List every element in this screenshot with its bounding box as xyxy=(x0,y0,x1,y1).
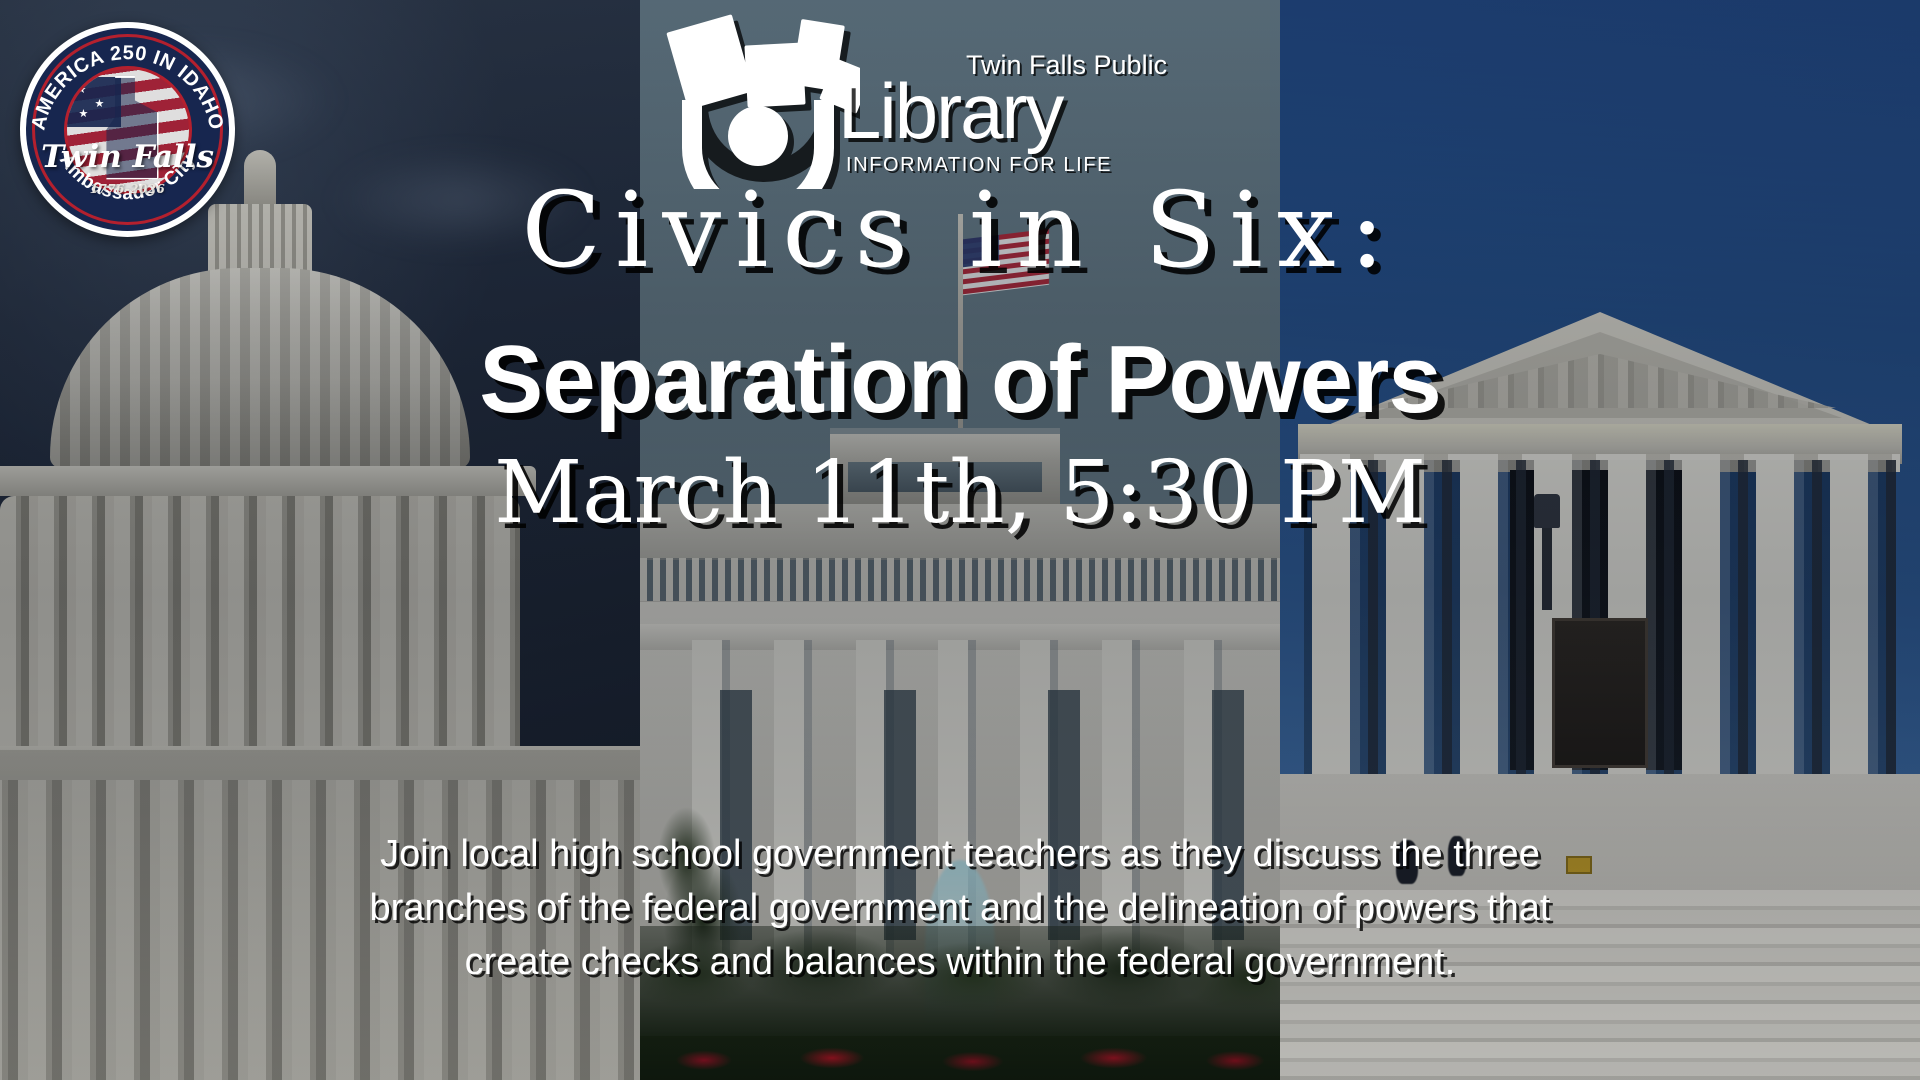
headline-datetime: March 11th, 5:30 PM xyxy=(0,450,1920,536)
event-flyer: ★ ★ ★ AMERICA 250 IN IDAHO Ambassador Ci… xyxy=(0,0,1920,1080)
event-description: Join local high school government teache… xyxy=(190,828,1730,990)
flyer-text-content: Civics in Six: Separation of Powers Marc… xyxy=(0,0,1920,1080)
headline-series-title: Civics in Six: xyxy=(0,178,1920,282)
description-line: Join local high school government teache… xyxy=(190,828,1730,882)
description-line: branches of the federal government and t… xyxy=(190,882,1730,936)
headline-topic: Separation of Powers xyxy=(0,332,1920,428)
description-line: create checks and balances within the fe… xyxy=(190,936,1730,990)
